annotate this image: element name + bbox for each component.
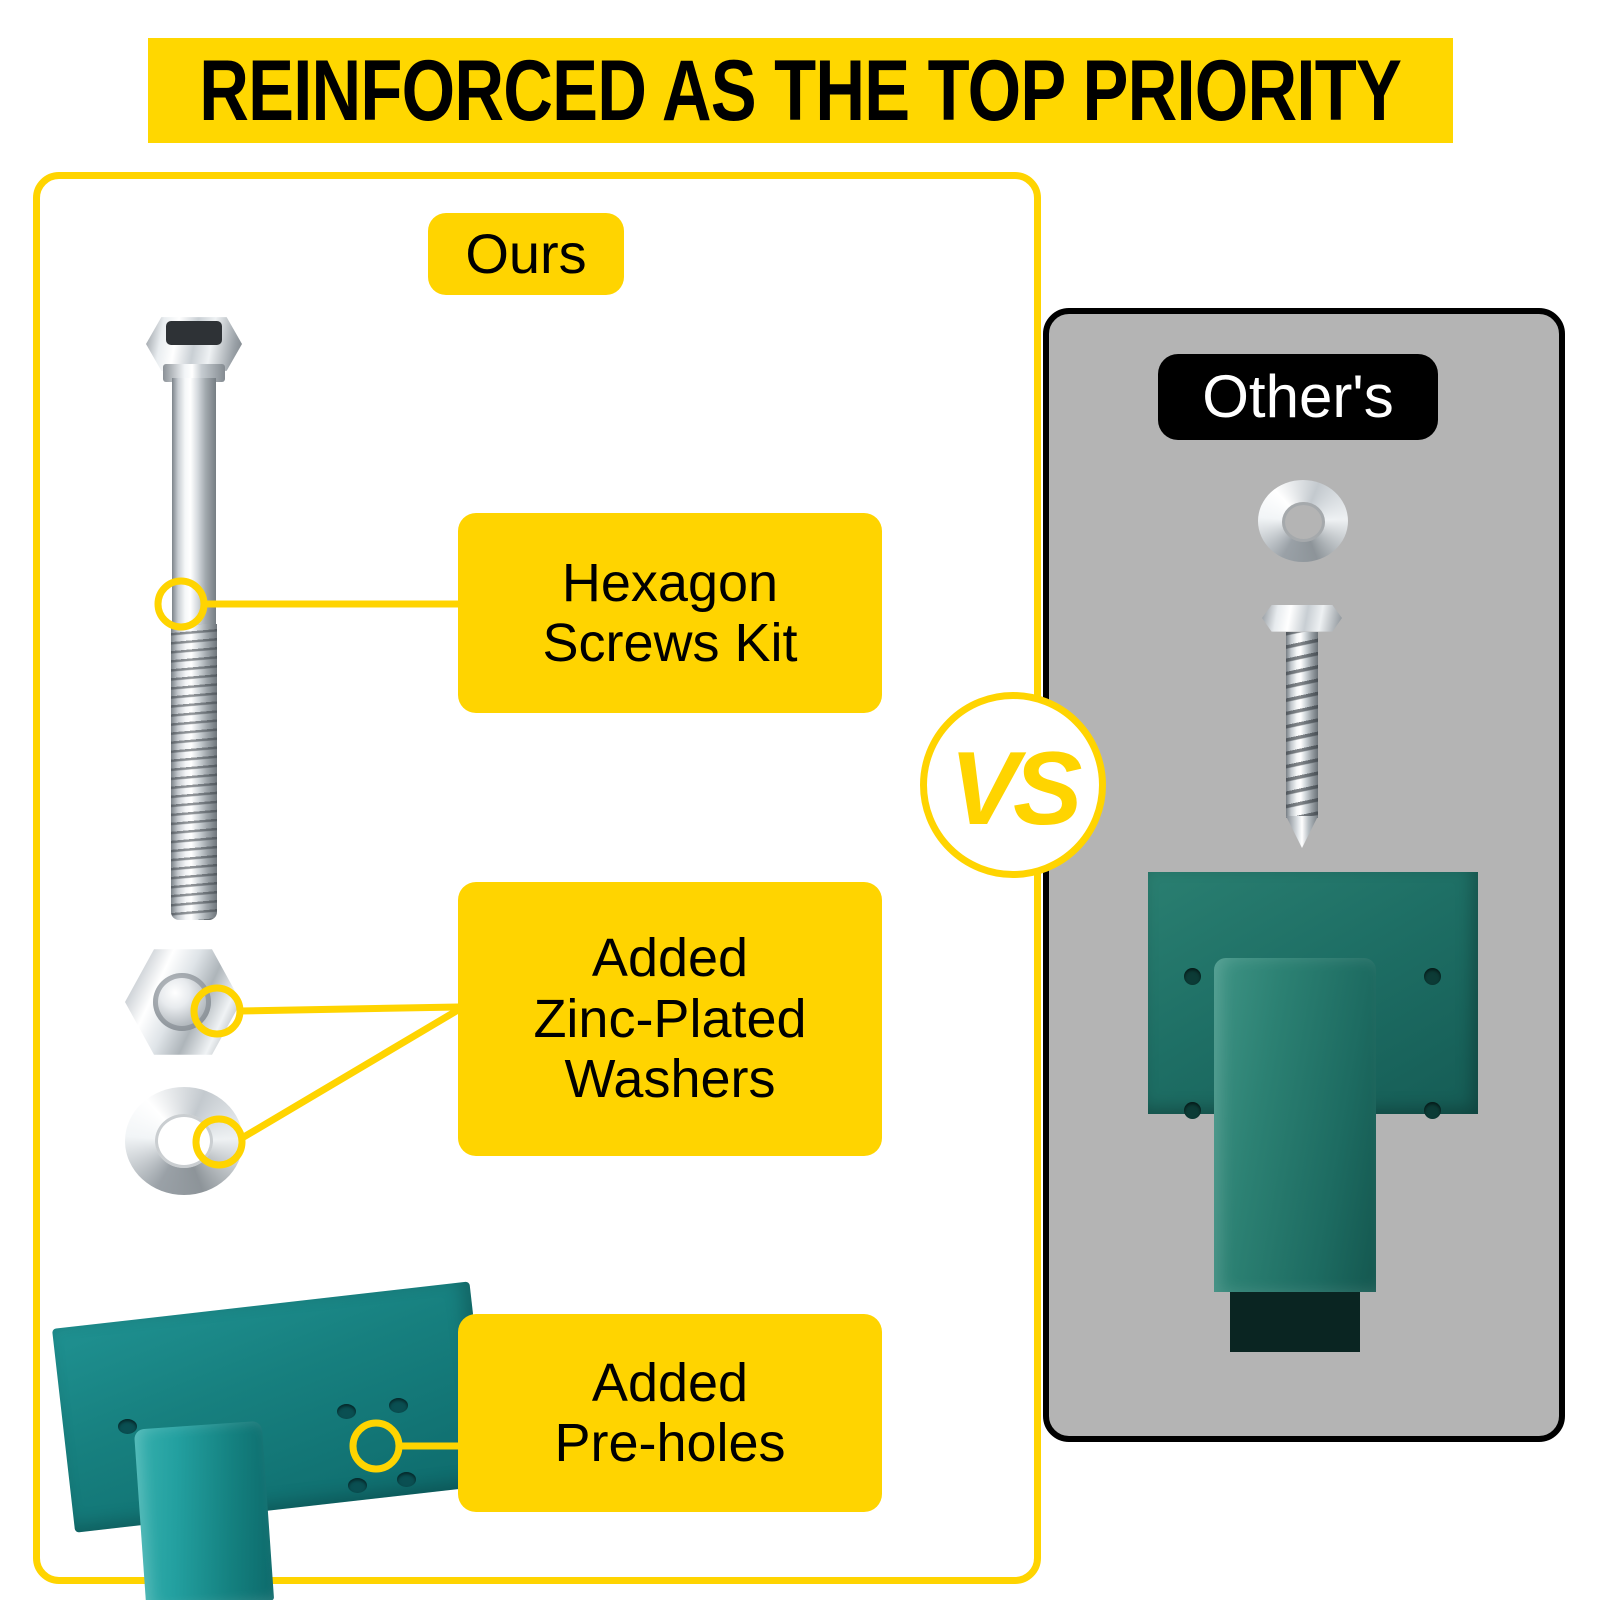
others-bracket-post xyxy=(1214,958,1376,1292)
ours-bracket-plate xyxy=(52,1281,493,1532)
vs-label: VS xyxy=(950,737,1077,841)
title-banner: REINFORCED AS THE TOP PRIORITY xyxy=(148,38,1453,143)
infographic-canvas: REINFORCED AS THE TOP PRIORITY Ours Hexa… xyxy=(0,0,1600,1600)
ours-bracket-image xyxy=(30,1315,480,1600)
callout-hexagon-screws-kit: Hexagon Screws Kit xyxy=(458,513,882,713)
bolt-head-top-face xyxy=(166,321,222,345)
others-bracket-image xyxy=(1148,872,1478,1372)
ours-badge: Ours xyxy=(428,213,624,295)
others-lag-screw-image xyxy=(1262,600,1342,848)
callout-added-pre-holes: Added Pre-holes xyxy=(458,1314,882,1512)
ours-bracket-hole xyxy=(348,1478,367,1493)
ours-bracket-hole xyxy=(337,1404,356,1419)
others-bracket-hole xyxy=(1184,1102,1201,1119)
callout-line: Added xyxy=(592,928,748,988)
lag-screw-tip xyxy=(1286,816,1318,848)
others-bracket-slot xyxy=(1230,1286,1360,1352)
callout-line: Hexagon xyxy=(562,553,778,613)
lag-screw-shaft xyxy=(1286,632,1318,818)
callout-line: Added xyxy=(592,1353,748,1413)
vs-badge: VS xyxy=(920,692,1106,878)
bolt-smooth-shank xyxy=(172,378,216,628)
ours-bracket-hole xyxy=(389,1398,408,1413)
callout-line: Washers xyxy=(564,1049,775,1109)
others-bracket-hole xyxy=(1424,1102,1441,1119)
ours-bracket-hole xyxy=(118,1419,137,1434)
page-title: REINFORCED AS THE TOP PRIORITY xyxy=(200,48,1402,134)
flat-washer-bore xyxy=(155,1114,213,1168)
lag-screw-head xyxy=(1262,600,1342,636)
callout-line: Zinc-Plated xyxy=(533,989,806,1049)
callout-line: Pre-holes xyxy=(554,1413,785,1473)
hex-bolt-image xyxy=(140,312,248,924)
flat-washer-image xyxy=(125,1087,243,1195)
others-badge: Other's xyxy=(1158,354,1438,440)
others-bracket-hole xyxy=(1424,968,1441,985)
others-flat-washer-image xyxy=(1258,480,1348,562)
others-flat-washer-bore xyxy=(1282,502,1325,542)
callout-added-zinc-plated-washers: Added Zinc-Plated Washers xyxy=(458,882,882,1156)
hex-nut-image xyxy=(125,947,241,1057)
hex-nut-bore xyxy=(153,973,211,1031)
others-bracket-hole xyxy=(1184,968,1201,985)
ours-bracket-hole xyxy=(397,1472,416,1487)
ours-bracket-post xyxy=(134,1421,274,1600)
callout-line: Screws Kit xyxy=(542,613,797,673)
bolt-threaded-shank xyxy=(171,624,217,920)
